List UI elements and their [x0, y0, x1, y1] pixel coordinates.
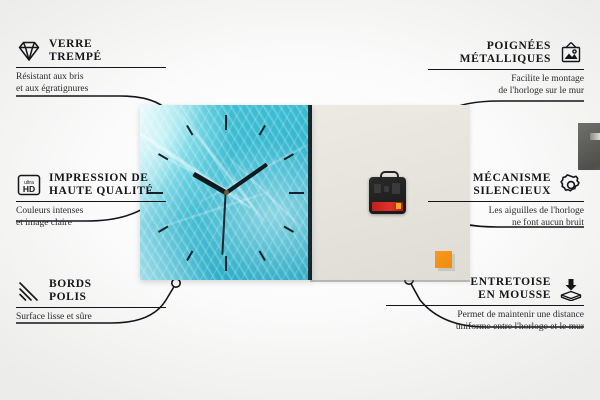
battery: [372, 202, 403, 211]
callout-bords-polis: BORDS POLIS Surface lisse et sûre: [16, 278, 166, 324]
diamond-icon: [16, 39, 42, 63]
callout-subtitle: Facilite le montage de l'horloge sur le …: [428, 74, 584, 97]
clock-center-cap: [224, 190, 229, 195]
callout-impression-haute-qualite: ultra HD IMPRESSION DE HAUTE QUALITÉ Cou…: [16, 172, 166, 229]
callout-mecanisme-silencieux: MÉCANISME SILENCIEUX Les aiguilles de l'…: [428, 172, 584, 229]
callout-rule: [428, 69, 584, 70]
callout-subtitle: Résistant aux bris et aux égratignures: [16, 72, 166, 95]
mechanism-detail: [384, 186, 389, 192]
callout-rule: [16, 67, 166, 68]
ultra-hd-icon: ultra HD: [16, 173, 42, 197]
hanging-frame-icon: [558, 41, 584, 65]
callout-subtitle: Surface lisse et sûre: [16, 312, 166, 324]
clock-mechanism: [369, 177, 406, 214]
callout-subtitle: Permet de maintenir une distance uniform…: [386, 310, 584, 333]
callout-title: VERRE TREMPÉ: [49, 38, 102, 64]
metal-hanger-plate: [578, 123, 600, 170]
callout-title: POIGNÉES MÉTALLIQUES: [460, 40, 551, 66]
mechanism-detail: [374, 184, 381, 193]
foam-spacer-icon: [558, 277, 584, 301]
mechanism-hook: [380, 171, 399, 182]
callout-rule: [16, 201, 166, 202]
callout-rule: [428, 201, 584, 202]
gear-icon: [558, 173, 584, 197]
callout-poignees-metalliques: POIGNÉES MÉTALLIQUES Facilite le montage…: [428, 40, 584, 97]
marker-bords-polis: [172, 279, 180, 287]
product-image: [140, 105, 470, 280]
callout-title: BORDS POLIS: [49, 278, 92, 304]
callout-title: MÉCANISME SILENCIEUX: [473, 172, 551, 198]
callout-entretoise-en-mousse: ENTRETOISE EN MOUSSE Permet de maintenir…: [386, 276, 584, 333]
callout-verre-trempe: VERRE TREMPÉ Résistant aux bris et aux é…: [16, 38, 166, 95]
callout-rule: [16, 307, 166, 308]
callout-title: IMPRESSION DE HAUTE QUALITÉ: [49, 172, 154, 198]
foam-spacer: [435, 251, 452, 268]
svg-text:HD: HD: [23, 184, 35, 194]
polished-edges-icon: [16, 279, 42, 303]
mechanism-detail: [392, 183, 400, 194]
callout-subtitle: Couleurs intenses et image claire: [16, 206, 166, 229]
callout-rule: [386, 305, 584, 306]
infographic-canvas: VERRE TREMPÉ Résistant aux bris et aux é…: [0, 0, 600, 400]
callout-title: ENTRETOISE EN MOUSSE: [470, 276, 551, 302]
hanger-slot: [590, 133, 600, 140]
callout-subtitle: Les aiguilles de l'horloge ne font aucun…: [428, 206, 584, 229]
